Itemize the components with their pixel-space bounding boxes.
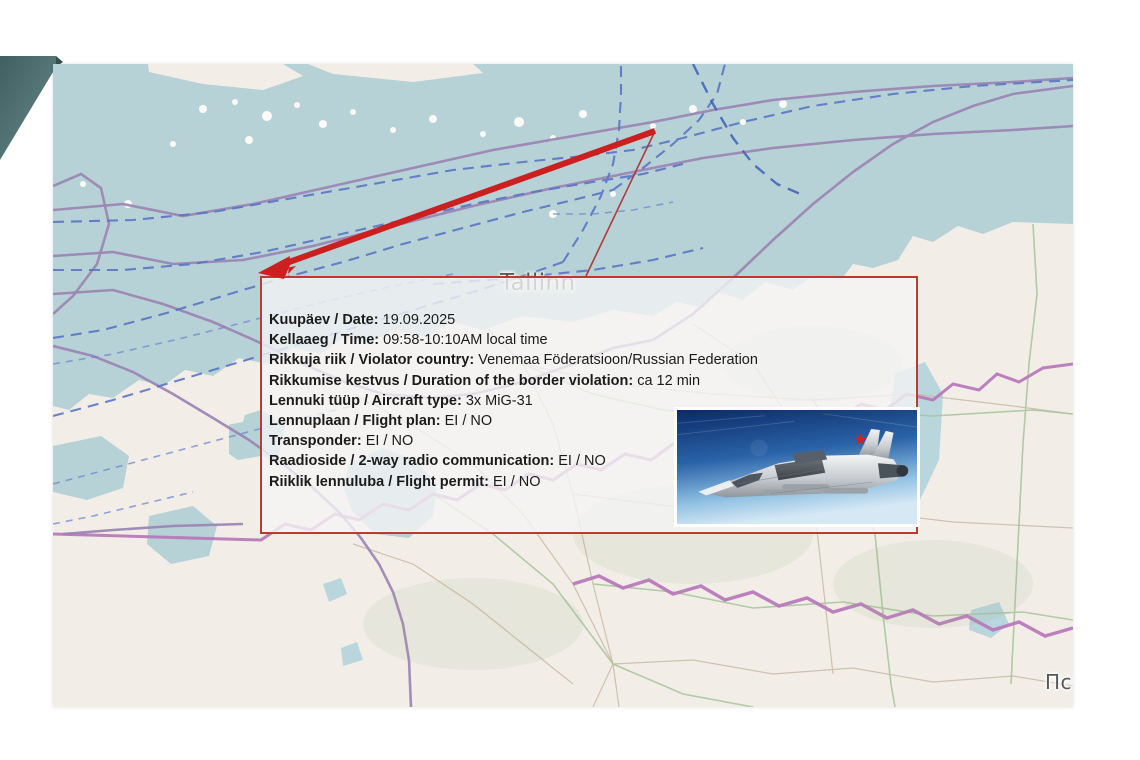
detail-value: EI / NO xyxy=(366,433,414,449)
detail-value: EI / NO xyxy=(558,453,606,469)
detail-label: Rikkuja riik / Violator country: xyxy=(269,352,474,368)
detail-label: Raadioside / 2-way radio communication: xyxy=(269,453,554,469)
detail-label: Rikkumise kestvus / Duration of the bord… xyxy=(269,373,633,389)
slide-canvas: Tallinn Псков Valmiera Псково Kuupäev / … xyxy=(0,0,1140,760)
mig-31-illustration xyxy=(677,410,917,524)
detail-value: EI / NO xyxy=(445,413,493,429)
map-label-pskov: Псков xyxy=(1045,670,1073,694)
detail-label: Kellaaeg / Time: xyxy=(269,332,379,348)
detail-value: 19.09.2025 xyxy=(383,312,456,328)
detail-row-duration: Rikkumise kestvus / Duration of the bord… xyxy=(269,371,758,391)
detail-row-date: Kuupäev / Date: 19.09.2025 xyxy=(269,310,758,330)
mig-31-photo xyxy=(674,407,920,527)
detail-label: Kuupäev / Date: xyxy=(269,312,379,328)
violation-info-box: Kuupäev / Date: 19.09.2025 Kellaaeg / Ti… xyxy=(260,276,918,534)
detail-value: ca 12 min xyxy=(637,373,700,389)
detail-label: Transponder: xyxy=(269,433,362,449)
detail-label: Lennuplaan / Flight plan: xyxy=(269,413,441,429)
detail-value: 09:58-10:10AM local time xyxy=(383,332,547,348)
detail-row-time: Kellaaeg / Time: 09:58-10:10AM local tim… xyxy=(269,330,758,350)
map-canvas[interactable]: Tallinn Псков Valmiera Псково Kuupäev / … xyxy=(53,64,1073,707)
detail-label: Riiklik lennuluba / Flight permit: xyxy=(269,474,489,490)
detail-label: Lennuki tüüp / Aircraft type: xyxy=(269,393,462,409)
detail-value: EI / NO xyxy=(493,474,541,490)
detail-row-violator-country: Rikkuja riik / Violator country: Venemaa… xyxy=(269,350,758,370)
detail-value: 3x MiG-31 xyxy=(466,393,533,409)
detail-value: Venemaa Föderatsioon/Russian Federation xyxy=(478,352,758,368)
